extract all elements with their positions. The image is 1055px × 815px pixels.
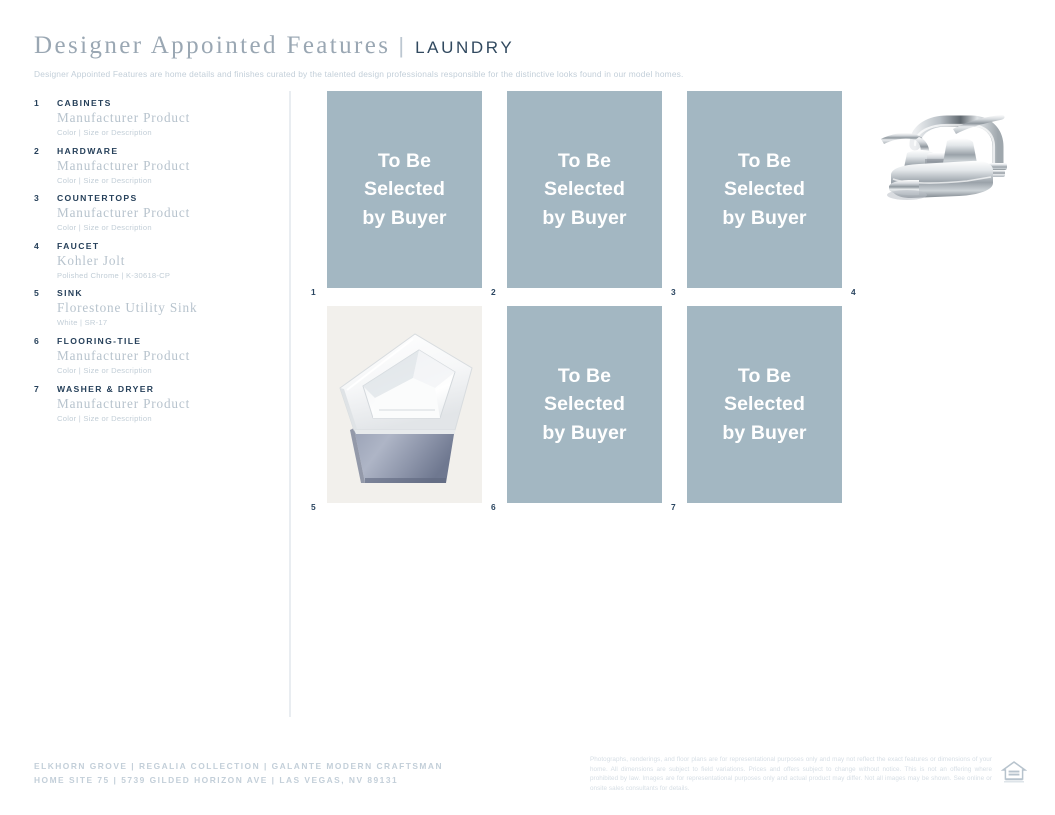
feature-number: 6 (34, 336, 57, 346)
grid-cell-4[interactable]: 4 (867, 91, 1027, 288)
feature-name: WASHER & DRYER (57, 384, 154, 394)
feature-product: Manufacturer Product (57, 111, 269, 126)
cell-number: 3 (671, 287, 676, 297)
list-item: 5 SINK Florestone Utility Sink White | S… (34, 288, 269, 327)
placeholder-swatch: To Be Selected by Buyer (687, 306, 842, 503)
placeholder-line-2: Selected (722, 390, 806, 418)
feature-detail: Color | Size or Description (57, 128, 269, 137)
feature-heading: 7 WASHER & DRYER (34, 384, 269, 394)
feature-list: 1 CABINETS Manufacturer Product Color | … (34, 98, 269, 431)
feature-name: HARDWARE (57, 146, 118, 156)
grid-cell-2[interactable]: To Be Selected by Buyer 2 (507, 91, 662, 288)
placeholder-line-1: To Be (362, 147, 446, 175)
feature-detail: Color | Size or Description (57, 366, 269, 375)
title-separator: | (398, 35, 404, 57)
feature-heading: 1 CABINETS (34, 98, 269, 108)
placeholder-line-3: by Buyer (722, 419, 806, 447)
feature-detail: White | SR-17 (57, 318, 269, 327)
equal-housing-opportunity-icon (1001, 760, 1027, 784)
feature-product: Manufacturer Product (57, 206, 269, 221)
placeholder-label: To Be Selected by Buyer (722, 362, 806, 447)
grid-cell-5[interactable]: 5 (327, 306, 482, 503)
title-row: Designer Appointed Features | LAUNDRY (34, 33, 1024, 58)
page-title: Designer Appointed Features (34, 33, 390, 58)
feature-number: 1 (34, 98, 57, 108)
cell-number: 4 (851, 287, 856, 297)
feature-detail: Color | Size or Description (57, 414, 269, 423)
feature-product: Manufacturer Product (57, 397, 269, 412)
feature-body: Manufacturer Product Color | Size or Des… (34, 397, 269, 423)
placeholder-swatch: To Be Selected by Buyer (687, 91, 842, 288)
feature-number: 4 (34, 241, 57, 251)
feature-heading: 6 FLOORING-TILE (34, 336, 269, 346)
cell-number: 7 (671, 502, 676, 512)
feature-heading: 5 SINK (34, 288, 269, 298)
feature-detail: Color | Size or Description (57, 223, 269, 232)
list-item: 3 COUNTERTOPS Manufacturer Product Color… (34, 193, 269, 232)
feature-name: CABINETS (57, 98, 112, 108)
list-item: 1 CABINETS Manufacturer Product Color | … (34, 98, 269, 137)
footer-line-2: HOME SITE 75 | 5739 GILDED HORIZON AVE |… (34, 773, 443, 787)
footer-line-1: ELKHORN GROVE | REGALIA COLLECTION | GAL… (34, 759, 443, 773)
placeholder-line-1: To Be (542, 362, 626, 390)
cell-number: 2 (491, 287, 496, 297)
feature-number: 3 (34, 193, 57, 203)
page-header: Designer Appointed Features | LAUNDRY De… (34, 33, 1024, 79)
grid-cell-3[interactable]: To Be Selected by Buyer 3 (687, 91, 842, 288)
feature-number: 5 (34, 288, 57, 298)
feature-body: Manufacturer Product Color | Size or Des… (34, 206, 269, 232)
cell-number: 6 (491, 502, 496, 512)
feature-product: Manufacturer Product (57, 159, 269, 174)
feature-body: Manufacturer Product Color | Size or Des… (34, 349, 269, 375)
feature-name: SINK (57, 288, 83, 298)
feature-number: 2 (34, 146, 57, 156)
feature-heading: 2 HARDWARE (34, 146, 269, 156)
placeholder-label: To Be Selected by Buyer (542, 362, 626, 447)
faucet-photo (867, 91, 1022, 288)
feature-number: 7 (34, 384, 57, 394)
grid-cell-6[interactable]: To Be Selected by Buyer 6 (507, 306, 662, 503)
placeholder-swatch: To Be Selected by Buyer (327, 91, 482, 288)
placeholder-label: To Be Selected by Buyer (362, 147, 446, 232)
sink-photo (327, 306, 482, 503)
list-item: 6 FLOORING-TILE Manufacturer Product Col… (34, 336, 269, 375)
utility-sink-icon (327, 306, 482, 503)
feature-body: Kohler Jolt Polished Chrome | K-30618-CP (34, 254, 269, 280)
list-item: 2 HARDWARE Manufacturer Product Color | … (34, 146, 269, 185)
placeholder-line-3: by Buyer (722, 204, 806, 232)
placeholder-line-2: Selected (362, 175, 446, 203)
placeholder-line-1: To Be (722, 362, 806, 390)
section-divider (289, 91, 291, 717)
page-subtitle: Designer Appointed Features are home det… (34, 69, 1024, 79)
placeholder-line-3: by Buyer (542, 204, 626, 232)
room-name: LAUNDRY (415, 39, 514, 56)
placeholder-line-3: by Buyer (362, 204, 446, 232)
placeholder-line-1: To Be (542, 147, 626, 175)
cell-number: 1 (311, 287, 316, 297)
feature-product: Kohler Jolt (57, 254, 269, 269)
placeholder-swatch: To Be Selected by Buyer (507, 91, 662, 288)
list-item: 7 WASHER & DRYER Manufacturer Product Co… (34, 384, 269, 423)
feature-name: FAUCET (57, 241, 99, 251)
feature-detail: Color | Size or Description (57, 176, 269, 185)
feature-body: Florestone Utility Sink White | SR-17 (34, 301, 269, 327)
placeholder-line-1: To Be (722, 147, 806, 175)
list-item: 4 FAUCET Kohler Jolt Polished Chrome | K… (34, 241, 269, 280)
feature-product: Florestone Utility Sink (57, 301, 269, 316)
feature-heading: 3 COUNTERTOPS (34, 193, 269, 203)
feature-body: Manufacturer Product Color | Size or Des… (34, 159, 269, 185)
placeholder-line-2: Selected (542, 175, 626, 203)
feature-heading: 4 FAUCET (34, 241, 269, 251)
cell-number: 5 (311, 502, 316, 512)
placeholder-line-2: Selected (722, 175, 806, 203)
placeholder-label: To Be Selected by Buyer (722, 147, 806, 232)
placeholder-swatch: To Be Selected by Buyer (507, 306, 662, 503)
footer-community-info: ELKHORN GROVE | REGALIA COLLECTION | GAL… (34, 759, 443, 788)
placeholder-line-3: by Buyer (542, 419, 626, 447)
placeholder-line-2: Selected (542, 390, 626, 418)
footer-disclaimer: Photographs, renderings, and floor plans… (590, 755, 992, 793)
feature-detail: Polished Chrome | K-30618-CP (57, 271, 269, 280)
grid-cell-1[interactable]: To Be Selected by Buyer 1 (327, 91, 482, 288)
feature-name: FLOORING-TILE (57, 336, 141, 346)
chrome-faucet-icon (867, 91, 1022, 288)
placeholder-label: To Be Selected by Buyer (542, 147, 626, 232)
grid-cell-7[interactable]: To Be Selected by Buyer 7 (687, 306, 842, 503)
feature-product: Manufacturer Product (57, 349, 269, 364)
feature-body: Manufacturer Product Color | Size or Des… (34, 111, 269, 137)
feature-name: COUNTERTOPS (57, 193, 138, 203)
